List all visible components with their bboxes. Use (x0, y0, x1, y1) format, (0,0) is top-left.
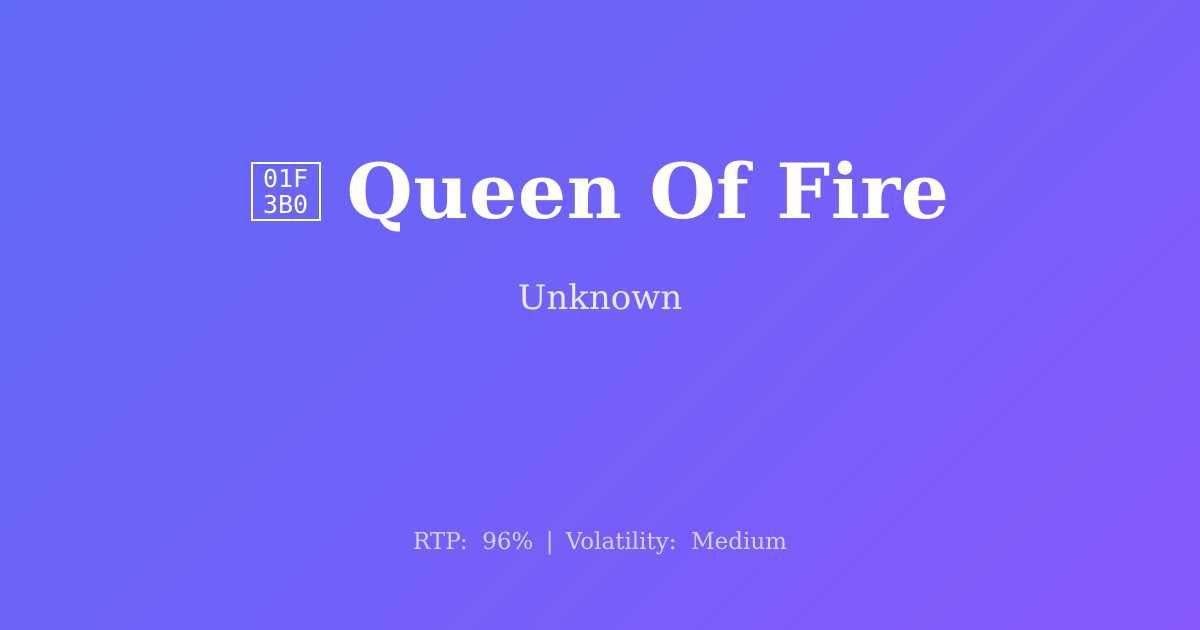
game-provider: Unknown (518, 278, 683, 319)
rtp-value: 96% (482, 529, 533, 555)
volatility-label: Volatility: (566, 529, 677, 555)
game-meta-line: RTP: 96% | Volatility: Medium (0, 527, 1200, 557)
title-row: 01F 3B0 Queen Of Fire (251, 152, 950, 232)
slot-machine-icon-hex-top: 01F (263, 166, 308, 192)
hero-section: 01F 3B0 Queen Of Fire Unknown (0, 0, 1200, 470)
slot-machine-icon-hex-bottom: 3B0 (263, 192, 308, 218)
slot-machine-icon: 01F 3B0 (251, 162, 321, 221)
volatility-value: Medium (691, 529, 787, 555)
game-preview-card: 01F 3B0 Queen Of Fire Unknown RTP: 96% |… (0, 0, 1200, 630)
game-title: Queen Of Fire (347, 152, 950, 232)
meta-separator: | (541, 529, 559, 555)
rtp-label: RTP: (413, 529, 468, 555)
